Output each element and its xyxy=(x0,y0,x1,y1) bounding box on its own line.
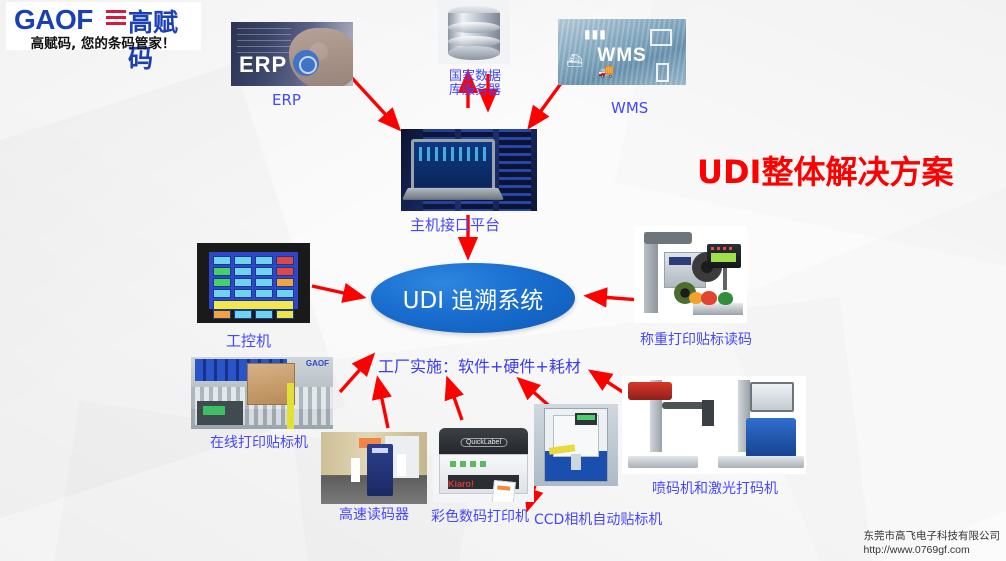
company-logo: GAOF 高赋码 高赋码, 您的条码管家！ xyxy=(6,2,201,50)
ccd-hmi-screen xyxy=(575,413,597,425)
db-cylinder-shape xyxy=(448,6,500,60)
server-laptop-base xyxy=(402,188,504,200)
erp-photo: ERP xyxy=(231,22,353,86)
printer-output-label xyxy=(490,480,516,502)
ccd-cabinet-photo xyxy=(534,404,618,486)
laser-marking-head xyxy=(628,382,672,400)
conveyor-photo: GAOF xyxy=(191,357,333,429)
inkjet-control-screen xyxy=(750,382,794,412)
factory-implementation-label: 工厂实施：软件+硬件+耗材 xyxy=(378,353,581,377)
node-label-ccd-labeler: CCD相机自动贴标机 xyxy=(534,509,662,529)
conveyor-watermark-logo: GAOF xyxy=(306,359,329,368)
node-label-national-db-line2: 库服务器 xyxy=(440,84,510,98)
node-label-erp: ERP xyxy=(272,91,301,109)
udi-ellipse-label: UDI 追溯系统 xyxy=(403,281,544,315)
udi-traceability-system-node[interactable]: UDI 追溯系统 xyxy=(371,263,575,333)
node-label-online-labeler: 在线打印贴标机 xyxy=(210,432,308,452)
node-label-host-platform: 主机接口平台 xyxy=(410,214,500,235)
node-label-wms: WMS xyxy=(611,99,648,117)
node-label-coder-laser: 喷码机和激光打码机 xyxy=(652,478,778,498)
color-printer-photo: QuickLabel Kiaro! xyxy=(433,424,534,502)
server-laptop-screen xyxy=(411,139,495,190)
wms-monitor-icon xyxy=(650,29,672,46)
barcode-scanner-photo xyxy=(321,432,427,504)
wms-ship-icon: ⛴ xyxy=(566,53,583,69)
footer-company: 东莞市高飞电子科技有限公司 xyxy=(864,529,1001,543)
node-label-weigh-labeler: 称重打印贴标读码 xyxy=(640,329,752,349)
weighing-labeler-photo xyxy=(634,226,747,323)
database-cylinder-icon xyxy=(438,0,510,64)
wms-photo-caption: WMS xyxy=(597,45,646,67)
node-label-high-speed-reader: 高速读码器 xyxy=(339,504,409,524)
page-title: UDI整体解决方案 xyxy=(697,147,953,193)
node-label-color-printer: 彩色数码打印机 xyxy=(431,506,529,526)
hmi-screen xyxy=(209,252,298,309)
scanner-device xyxy=(367,444,393,496)
slide-canvas: GAOF 高赋码 高赋码, 您的条码管家！ UDI整体解决方案 xyxy=(0,0,1006,561)
wms-people-icon: ▮▮▮ xyxy=(584,27,607,41)
wms-phone-icon xyxy=(656,63,669,82)
footer: 东莞市高飞电子科技有限公司 http://www.0769gf.com xyxy=(864,529,1001,557)
printer-brand-badge: QuickLabel xyxy=(460,438,507,447)
laser-inkjet-photo xyxy=(622,376,806,474)
node-label-ipc: 工控机 xyxy=(226,330,271,351)
erp-network-icon xyxy=(293,50,319,76)
industrial-hmi-photo xyxy=(197,243,310,323)
printer-logo: Kiaro! xyxy=(448,479,474,489)
footer-url[interactable]: http://www.0769gf.com xyxy=(864,543,1001,557)
node-label-national-db-line1: 国家数据 xyxy=(440,70,510,84)
logo-tagline: 高赋码, 您的条码管家！ xyxy=(12,32,194,52)
erp-photo-caption: ERP xyxy=(239,52,287,78)
inkjet-body xyxy=(746,418,796,458)
wms-photo: ▮▮▮ ⛴ 🚚 WMS xyxy=(558,19,686,85)
server-room-photo xyxy=(401,129,537,211)
scale-display xyxy=(707,244,741,268)
barcode-bars-icon xyxy=(106,10,126,30)
node-label-national-db: 国家数据 库服务器 xyxy=(440,70,510,98)
